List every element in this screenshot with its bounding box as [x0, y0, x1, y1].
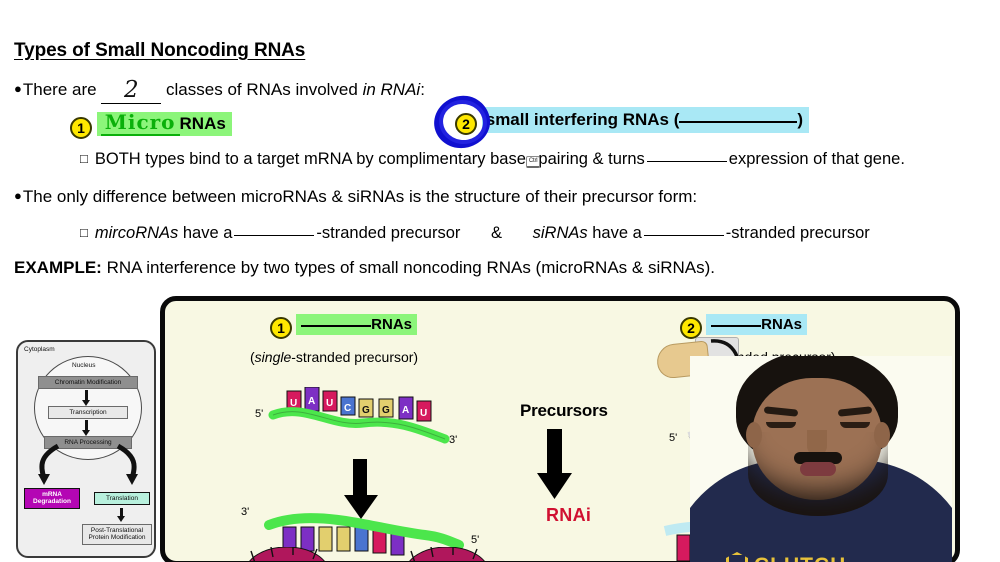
nucleus-label: Nucleus [72, 362, 95, 369]
blank-onoff [647, 161, 727, 162]
svg-text:A: A [308, 396, 315, 407]
line1-post: classes of RNAs involved [166, 80, 358, 99]
line1-pre: There are [23, 80, 97, 99]
sub-bullet-precursor-compare: □mircoRNAs have a-stranded precursor & s… [80, 224, 870, 243]
item1-highlight: MicroRNAs [97, 112, 232, 136]
panel1-sub-italic: single [255, 349, 292, 365]
blank-micro-strand [234, 235, 314, 236]
svg-text:U: U [326, 398, 333, 409]
blank-sirna-strand [644, 235, 724, 236]
svg-text:5': 5' [471, 534, 479, 546]
line4-f: -stranded precursor [726, 224, 870, 242]
bullet-difference: ●The only difference between microRNAs &… [14, 187, 697, 207]
inset-box-chromatin-modification: Chromatin Modification [38, 376, 138, 389]
example-label: EXAMPLE: [14, 258, 102, 277]
webcam-overlay[interactable]: CLUTCH [690, 356, 952, 562]
bullet-dot-icon-2: ● [14, 188, 22, 203]
panel2-title-suffix: RNAs [761, 316, 802, 333]
svg-text:G: G [382, 405, 390, 416]
number-badge-2: 2 [455, 113, 477, 135]
webcam-mouth [800, 462, 836, 476]
svg-text:5': 5' [255, 408, 263, 420]
bullet-classes-count: ●There are 2 classes of RNAs involved in… [14, 77, 425, 103]
line4-sirna: siRNAs [533, 224, 588, 242]
inset-box-translation: Translation [94, 492, 150, 505]
panel1-heading: 1 RNAs [270, 316, 417, 339]
line4-c: -stranded precursor [316, 224, 460, 242]
number-badge-1: 1 [70, 117, 92, 139]
inset-box-post-translational: Post-Translational Protein Modification [82, 524, 152, 545]
line4-micro: mircoRNAs [95, 224, 178, 242]
inset-branch-arrows [18, 442, 158, 486]
fig-number-badge-1: 1 [270, 317, 292, 339]
item2-highlight: small interfering RNAs () [482, 107, 809, 133]
webcam-ear-left [746, 422, 762, 448]
panel1-title-suffix: RNAs [371, 316, 412, 333]
webcam-eye-left [766, 422, 796, 428]
item2-label-a: small interfering RNAs ( [486, 110, 680, 129]
inset-arrow-3 [117, 516, 125, 522]
line4-e: have a [592, 224, 642, 242]
class-item-2: 2 small interfering RNAs () [455, 110, 809, 135]
rnai-label: RNAi [546, 505, 591, 526]
example-text: RNA interference by two types of small n… [107, 258, 715, 277]
panel1-blank [301, 325, 371, 327]
precursors-label: Precursors [520, 401, 608, 421]
sub-bullet-both-types: □BOTH types bind to a target mRNA by com… [80, 150, 905, 170]
svg-text:A: A [402, 405, 409, 416]
page-title: Types of Small Noncoding RNAs [14, 40, 305, 62]
svg-text:U: U [420, 408, 427, 419]
panel1-sub-rest: -stranded precursor) [291, 349, 418, 365]
square-bullet-icon-2: □ [80, 225, 88, 240]
example-line: EXAMPLE: RNA interference by two types o… [14, 258, 715, 278]
line2-a: BOTH types bind to a target mRNA by comp… [95, 150, 526, 168]
webcam-ear-right [874, 422, 890, 448]
ctrl-key-badge: Ctrl [526, 156, 541, 168]
webcam-eye-right [840, 422, 870, 428]
panel1-subtitle: (single-stranded precursor) [250, 349, 418, 365]
blank-siRNA [679, 121, 797, 123]
slide-canvas: Types of Small Noncoding RNAs ●There are… [0, 0, 1000, 562]
svg-text:5': 5' [669, 432, 677, 444]
square-bullet-icon: □ [80, 151, 88, 166]
gene-expression-inset: Cytoplasm Nucleus Chromatin Modification… [16, 340, 156, 558]
line2-b: pairing & turns [538, 150, 644, 168]
svg-text:3': 3' [241, 506, 249, 518]
line4-amp: & [491, 224, 502, 242]
svg-text:C: C [344, 403, 351, 414]
line1-italic-rnai: in RNAi [363, 80, 421, 99]
cytoplasm-label: Cytoplasm [24, 346, 55, 353]
item1-label: RNAs [180, 114, 226, 133]
class-item-1: 1 MicroRNAs [70, 110, 232, 139]
line1-colon: : [420, 80, 425, 99]
mirna-single-strand-graphic: 5' 3' U A U C G G A U [253, 387, 473, 457]
fig-number-badge-2: 2 [680, 317, 702, 339]
line4-b: have a [183, 224, 233, 242]
item2-label-b: ) [797, 110, 803, 129]
handwritten-answer-micro: Micro [101, 110, 180, 136]
inset-box-transcription: Transcription [48, 406, 128, 419]
svg-text:3': 3' [449, 434, 457, 446]
svg-text:G: G [362, 405, 370, 416]
bullet-dot-icon: ● [14, 81, 22, 96]
panel2-blank [711, 325, 761, 327]
inset-box-mrna-degradation: mRNA Degradation [24, 488, 80, 509]
panel2-title-highlight: RNAs [706, 314, 807, 335]
line2-c: expression of that gene. [729, 150, 905, 168]
line3: The only difference between microRNAs & … [23, 187, 697, 206]
panel1-title-highlight: RNAs [296, 314, 417, 335]
handwritten-answer-count: 2 [101, 77, 161, 103]
clutch-logo-text: CLUTCH [754, 554, 846, 562]
precursors-down-arrow-icon [535, 429, 575, 501]
